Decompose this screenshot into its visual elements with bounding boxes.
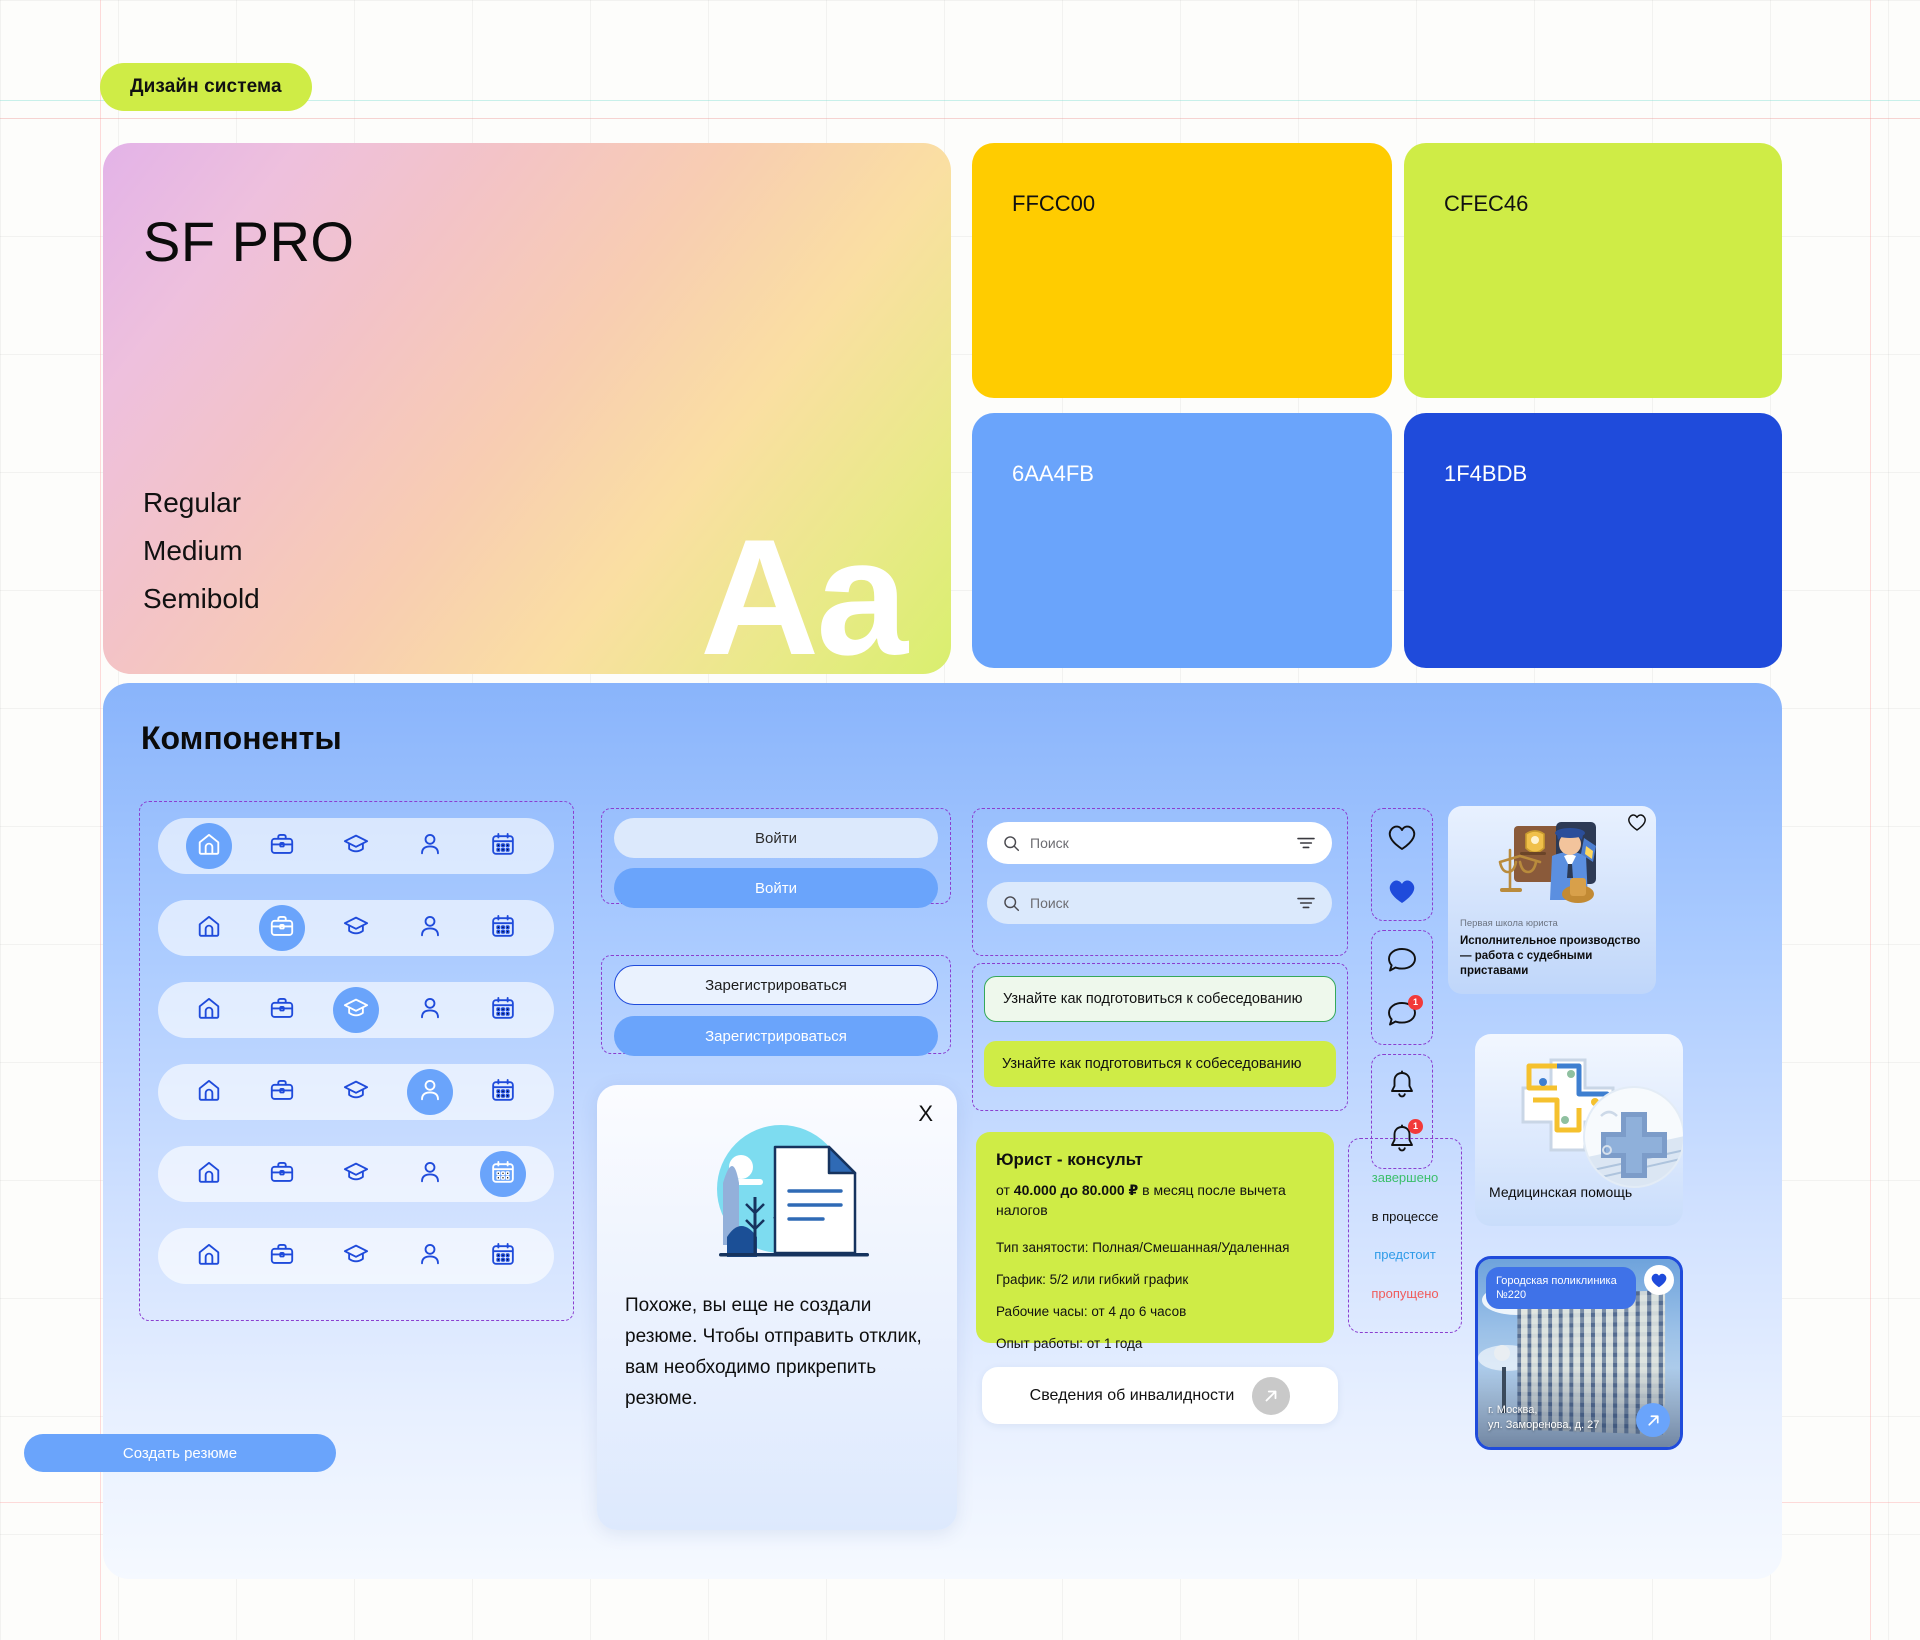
navbar-briefcase-button[interactable] — [259, 1151, 305, 1197]
page-title-label: Дизайн система — [130, 76, 282, 98]
search-field-tinted[interactable]: Поиск — [987, 882, 1332, 924]
calendar-icon — [490, 1159, 516, 1190]
color-swatch-label: FFCC00 — [1012, 191, 1095, 216]
calendar-icon — [490, 913, 516, 944]
navbar-person-button[interactable] — [407, 1151, 453, 1197]
chat-badge-count: 1 — [1408, 995, 1423, 1010]
navbar-calendar-button[interactable] — [480, 1233, 526, 1279]
navbar-home-button[interactable] — [186, 905, 232, 951]
chat-badge-button[interactable]: 1 — [1386, 999, 1418, 1031]
navbar-row[interactable] — [158, 1228, 554, 1284]
chat-outline-icon — [1386, 945, 1418, 975]
navbar-briefcase-button[interactable] — [259, 1233, 305, 1279]
person-icon — [417, 913, 443, 944]
grid-line — [0, 118, 1920, 119]
medical-badge-illustration — [1583, 1086, 1683, 1188]
status-in-progress: в процессе — [1372, 1209, 1439, 1224]
home-icon — [196, 1159, 222, 1190]
page-title-pill: Дизайн система — [100, 63, 312, 111]
calendar-icon — [490, 831, 516, 862]
home-icon — [196, 1241, 222, 1272]
favorite-button-law[interactable] — [1626, 812, 1648, 837]
vacancy-salary: от 40.000 до 80.000 ₽ в месяц после выче… — [996, 1180, 1314, 1220]
heart-outline-icon — [1386, 822, 1418, 852]
info-chip-outline[interactable]: Узнайте как подготовиться к собеседовани… — [984, 976, 1336, 1022]
navbar-person-button[interactable] — [407, 905, 453, 951]
create-resume-button[interactable]: Создать резюме — [24, 1434, 336, 1472]
empty-resume-modal: X Похоже, вы еще не создали резюме. Чтоб… — [597, 1085, 957, 1530]
navbar-calendar-button[interactable] — [480, 987, 526, 1033]
search-icon — [1003, 895, 1020, 912]
heart-button-group — [1371, 808, 1433, 921]
close-icon[interactable]: X — [918, 1101, 933, 1127]
heart-filled-icon — [1386, 876, 1418, 906]
font-weight-medium: Medium — [143, 527, 260, 575]
login-button-solid-label: Войти — [755, 880, 797, 897]
promo-card-medical[interactable]: Медицинская помощь — [1475, 1034, 1683, 1226]
heart-filled-button[interactable] — [1386, 876, 1418, 908]
graduation-cap-icon — [343, 1077, 369, 1108]
color-swatch-ffcc00: FFCC00 — [972, 143, 1392, 398]
grid-line — [100, 0, 101, 1640]
arrow-up-right-icon — [1252, 1377, 1290, 1415]
status-label-group: завершено в процессе предстоит пропущено — [1348, 1138, 1462, 1333]
vacancy-card[interactable]: Юрист - консульт от 40.000 до 80.000 ₽ в… — [976, 1132, 1334, 1343]
navbar-home-button[interactable] — [186, 823, 232, 869]
promo-card-source: Первая школа юриста — [1460, 918, 1558, 929]
navbar-row[interactable] — [158, 818, 554, 874]
navbar-briefcase-button[interactable] — [259, 987, 305, 1033]
clinic-address: г. Москва,ул. Заморенова, д. 27 — [1488, 1403, 1599, 1433]
disability-info-button[interactable]: Сведения об инвалидности — [982, 1367, 1338, 1424]
briefcase-icon — [269, 913, 295, 944]
promo-card-title: Исполнительное производство — работа с с… — [1460, 934, 1648, 979]
vacancy-detail: График: 5/2 или гибкий график — [996, 1270, 1314, 1290]
navbar-briefcase-button[interactable] — [259, 1069, 305, 1115]
bell-badge-count: 1 — [1408, 1119, 1423, 1134]
calendar-icon — [490, 1241, 516, 1272]
login-button-solid[interactable]: Войти — [614, 868, 938, 908]
navbar-graduation-cap-button[interactable] — [333, 823, 379, 869]
person-icon — [417, 995, 443, 1026]
navbar-calendar-button[interactable] — [480, 823, 526, 869]
briefcase-icon — [269, 831, 295, 862]
font-weight-semibold: Semibold — [143, 575, 260, 623]
navbar-home-button[interactable] — [186, 1151, 232, 1197]
grid-line — [1870, 0, 1871, 1640]
navbar-briefcase-button[interactable] — [259, 823, 305, 869]
navbar-variants-group — [139, 801, 574, 1321]
graduation-cap-icon — [343, 831, 369, 862]
briefcase-icon — [269, 1077, 295, 1108]
typography-card: SF PRO Regular Medium Semibold Aa — [103, 143, 951, 674]
register-button-solid[interactable]: Зарегистрироваться — [614, 1016, 938, 1056]
navbar-calendar-button[interactable] — [480, 1069, 526, 1115]
clinic-link-button[interactable] — [1636, 1403, 1670, 1437]
info-chip-solid-label: Узнайте как подготовиться к собеседовани… — [1002, 1056, 1302, 1072]
navbar-calendar-button[interactable] — [480, 1151, 526, 1197]
arrow-up-right-icon — [1645, 1412, 1662, 1429]
color-swatch-6aa4fb: 6AA4FB — [972, 413, 1392, 668]
navbar-person-button[interactable] — [407, 987, 453, 1033]
document-illustration — [663, 1117, 891, 1282]
status-upcoming: предстоит — [1374, 1247, 1436, 1262]
briefcase-icon — [269, 1159, 295, 1190]
calendar-icon — [490, 995, 516, 1026]
navbar-person-button[interactable] — [407, 1233, 453, 1279]
heart-filled-icon — [1649, 1271, 1669, 1289]
navbar-graduation-cap-button[interactable] — [333, 1069, 379, 1115]
promo-card-clinic[interactable]: Городская поликлиника №220 г. Москва,ул.… — [1475, 1256, 1683, 1450]
create-resume-button-label: Создать резюме — [123, 1445, 237, 1462]
home-icon — [196, 831, 222, 862]
navbar-row[interactable] — [158, 900, 554, 956]
briefcase-icon — [269, 995, 295, 1026]
navbar-briefcase-button[interactable] — [259, 905, 305, 951]
login-button-light-label: Войти — [755, 830, 797, 847]
status-missed: пропущено — [1371, 1286, 1438, 1301]
clinic-name: Городская поликлиника №220 — [1486, 1267, 1636, 1309]
color-swatch-cfec46: CFEC46 — [1404, 143, 1782, 398]
color-swatch-label: 1F4BDB — [1444, 461, 1527, 486]
search-field-white[interactable]: Поиск — [987, 822, 1332, 864]
vacancy-detail: Опыт работы: от 1 года — [996, 1334, 1314, 1354]
person-icon — [417, 1241, 443, 1272]
color-swatch-1f4bdb: 1F4BDB — [1404, 413, 1782, 668]
heart-outline-icon — [1626, 812, 1648, 832]
vacancy-salary-amount: 40.000 до 80.000 ₽ — [1014, 1182, 1139, 1198]
font-weight-list: Regular Medium Semibold — [143, 479, 260, 623]
filter-icon[interactable] — [1296, 895, 1316, 911]
search-placeholder: Поиск — [1030, 835, 1286, 851]
briefcase-icon — [269, 1241, 295, 1272]
chat-button-group: 1 — [1371, 930, 1433, 1045]
navbar-home-button[interactable] — [186, 1233, 232, 1279]
navbar-person-button[interactable] — [407, 823, 453, 869]
components-title: Компоненты — [141, 720, 342, 757]
status-completed: завершено — [1372, 1170, 1438, 1185]
home-icon — [196, 913, 222, 944]
search-placeholder: Поиск — [1030, 895, 1286, 911]
navbar-home-button[interactable] — [186, 1069, 232, 1115]
heart-outline-button[interactable] — [1386, 822, 1418, 854]
vacancy-detail: Рабочие часы: от 4 до 6 часов — [996, 1302, 1314, 1322]
bell-outline-button[interactable] — [1386, 1069, 1418, 1101]
vacancy-title: Юрист - консульт — [996, 1150, 1314, 1170]
vacancy-detail: Тип занятости: Полная/Смешанная/Удаленна… — [996, 1238, 1314, 1258]
font-weight-regular: Regular — [143, 479, 260, 527]
person-icon — [417, 831, 443, 862]
navbar-graduation-cap-button[interactable] — [333, 1151, 379, 1197]
navbar-graduation-cap-button[interactable] — [333, 905, 379, 951]
info-chip-solid[interactable]: Узнайте как подготовиться к собеседовани… — [984, 1041, 1336, 1087]
home-icon — [196, 1077, 222, 1108]
navbar-calendar-button[interactable] — [480, 905, 526, 951]
register-button-outline-label: Зарегистрироваться — [705, 977, 847, 994]
design-system-canvas: Дизайн система SF PRO Regular Medium Sem… — [0, 0, 1920, 1640]
person-icon — [417, 1159, 443, 1190]
graduation-cap-icon — [343, 1159, 369, 1190]
navbar-person-button[interactable] — [407, 1069, 453, 1115]
graduation-cap-icon — [343, 995, 369, 1026]
person-icon — [417, 1077, 443, 1108]
navbar-row[interactable] — [158, 1146, 554, 1202]
promo-card-title: Медицинская помощь — [1489, 1183, 1632, 1202]
graduation-cap-icon — [343, 1241, 369, 1272]
navbar-home-button[interactable] — [186, 987, 232, 1033]
color-swatch-label: 6AA4FB — [1012, 461, 1094, 486]
promo-card-law-course[interactable]: Первая школа юриста Исполнительное произ… — [1448, 806, 1656, 994]
favorite-button-clinic[interactable] — [1644, 1265, 1674, 1295]
navbar-row[interactable] — [158, 982, 554, 1038]
navbar-row[interactable] — [158, 1064, 554, 1120]
search-icon — [1003, 835, 1020, 852]
home-icon — [196, 995, 222, 1026]
disability-info-button-label: Сведения об инвалидности — [1030, 1387, 1235, 1405]
empty-resume-message: Похоже, вы еще не создали резюме. Чтобы … — [625, 1290, 935, 1414]
bell-outline-icon — [1386, 1069, 1418, 1101]
info-chip-outline-label: Узнайте как подготовиться к собеседовани… — [1003, 991, 1303, 1007]
graduation-cap-icon — [343, 913, 369, 944]
chat-outline-button[interactable] — [1386, 945, 1418, 977]
law-illustration — [1490, 812, 1616, 916]
font-sample-glyph: Aa — [700, 515, 905, 674]
calendar-icon — [490, 1077, 516, 1108]
login-button-light[interactable]: Войти — [614, 818, 938, 858]
navbar-graduation-cap-button[interactable] — [333, 987, 379, 1033]
navbar-graduation-cap-button[interactable] — [333, 1233, 379, 1279]
vacancy-salary-prefix: от — [996, 1182, 1014, 1198]
register-button-outline[interactable]: Зарегистрироваться — [614, 965, 938, 1005]
font-family-name: SF PRO — [143, 209, 354, 274]
filter-icon[interactable] — [1296, 835, 1316, 851]
color-swatch-label: CFEC46 — [1444, 191, 1528, 216]
register-button-solid-label: Зарегистрироваться — [705, 1028, 847, 1045]
